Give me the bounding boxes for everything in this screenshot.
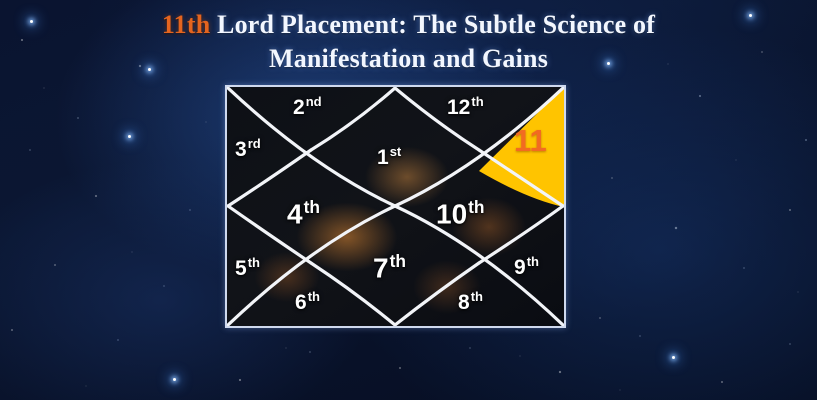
house-label-2[interactable]: 2nd [293,95,322,118]
page-title: 11th Lord Placement: The Subtle Science … [0,8,817,76]
page-title-line1: Lord Placement: The Subtle Science of [210,10,655,39]
kundali-chart-frame: 1st 2nd 3rd 4th 5th 6th 7th 8th [225,85,566,328]
page-title-accent: 11th [162,10,210,39]
house-label-12[interactable]: 12th [447,95,484,118]
house-label-1[interactable]: 1st [377,145,401,168]
bright-star-icon [173,378,176,381]
house-label-4[interactable]: 4th [287,199,320,228]
bright-star-icon [128,135,131,138]
house-label-6[interactable]: 6th [295,290,320,313]
house-label-10[interactable]: 10th [436,199,485,228]
kundali-chart: 1st 2nd 3rd 4th 5th 6th 7th 8th [225,85,566,328]
diagonal-tr-bl [228,88,563,325]
house-label-5[interactable]: 5th [235,256,260,279]
house-label-11[interactable]: 11 [514,125,547,156]
inner-diamond-top-left [311,88,395,150]
house-label-9[interactable]: 9th [514,255,539,278]
page-title-line2: Manifestation and Gains [269,44,548,73]
house-label-7[interactable]: 7th [373,253,406,282]
bright-star-icon [672,356,675,359]
house-label-3[interactable]: 3rd [235,137,261,160]
house-label-8[interactable]: 8th [458,290,483,313]
image-canvas: 11th Lord Placement: The Subtle Science … [0,0,817,400]
